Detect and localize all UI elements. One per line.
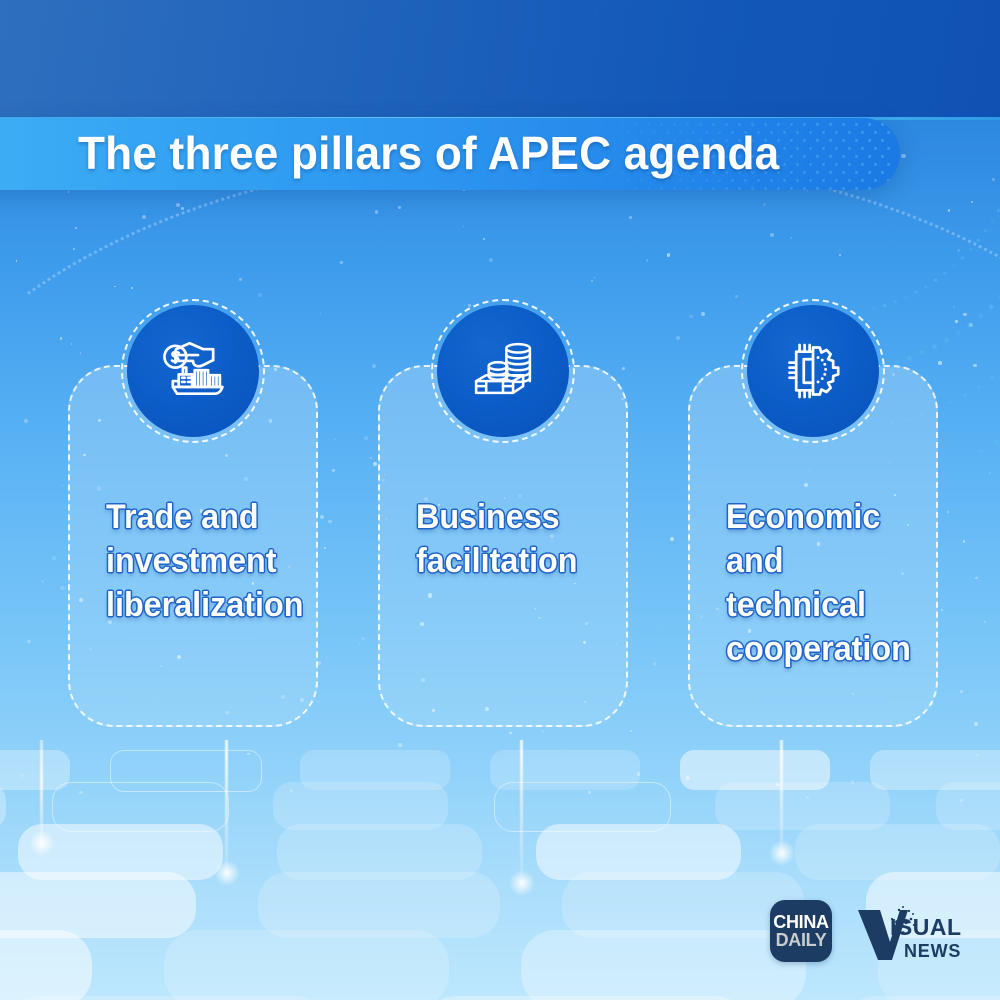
china-daily-line1: CHINA [773,913,829,931]
china-daily-line2: DAILY [776,931,827,950]
hand-coin-cargo-ship-icon [127,305,259,437]
pillar-label: Trade and investment liberalization [106,495,288,627]
pillar-icon-badge [121,299,265,443]
pillar-card-economic-technical-cooperation[interactable]: Economic and technical cooperation [688,365,938,727]
visual-news-wordmark: ISUAL [890,914,962,941]
money-stacks-coins-icon [437,305,569,437]
pillar-icon-badge [431,299,575,443]
pillar-label: Business facilitation [416,495,598,583]
pillars-group: Trade and investment liberalization [0,0,1000,1000]
microchip-gear-icon [747,305,879,437]
pillar-card-business-facilitation[interactable]: Business facilitation [378,365,628,727]
footer-logos: CHINA DAILY ISUAL NEWS [770,900,970,966]
visual-news-subword: NEWS [904,941,961,962]
china-daily-logo: CHINA DAILY [770,900,832,962]
visual-news-logo: ISUAL NEWS [856,902,974,964]
pillar-label: Economic and technical cooperation [726,495,908,671]
pillar-card-trade-investment-liberalization[interactable]: Trade and investment liberalization [68,365,318,727]
infographic-canvas: The three pillars of APEC agenda [0,0,1000,1000]
pillar-icon-badge [741,299,885,443]
